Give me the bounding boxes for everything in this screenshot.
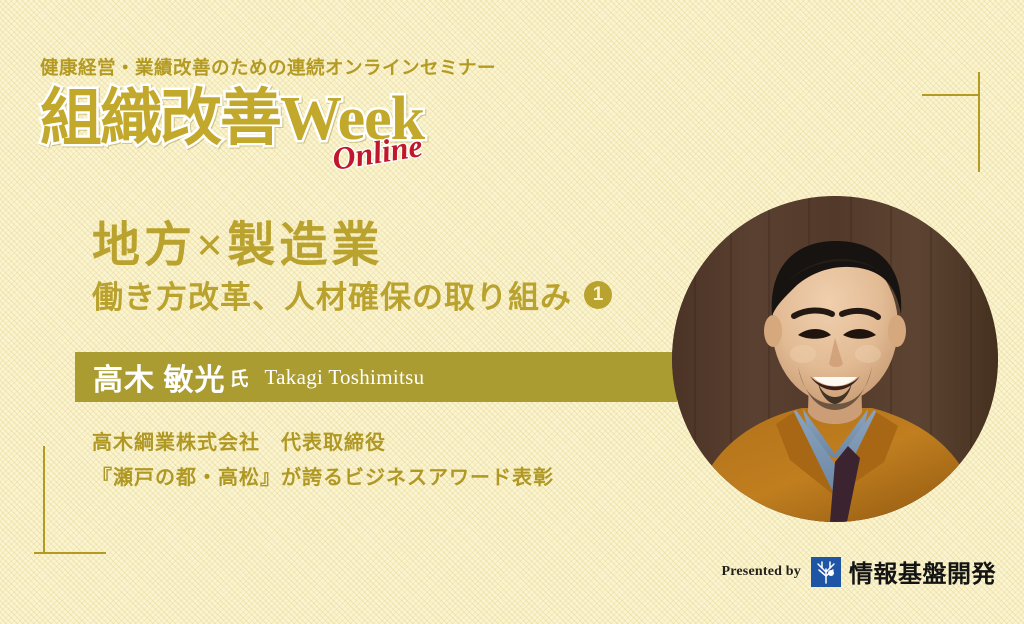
corner-bracket-top-right-horizontal bbox=[922, 94, 980, 96]
speaker-description: 『瀬戸の都・高松』が誇るビジネスアワード表彰 bbox=[92, 461, 554, 490]
seminar-banner: 健康経営・業績改善のための連続オンラインセミナー 組織改善Week Online… bbox=[0, 0, 1024, 624]
presented-by: Presented by 情報基盤開発 bbox=[721, 554, 996, 589]
speaker-honorific: 氏 bbox=[230, 364, 249, 391]
speaker-name-bar: 高木 敏光 氏 Takagi Toshimitsu bbox=[75, 352, 677, 402]
speaker-photo-image bbox=[672, 196, 998, 522]
speaker-affiliation: 高木綱業株式会社 代表取締役 bbox=[92, 426, 386, 455]
page-title: 地方×製造業 bbox=[92, 205, 383, 275]
tree-mark-icon bbox=[811, 557, 841, 587]
sponsor-name: 情報基盤開発 bbox=[849, 554, 996, 589]
speaker-name-japanese: 高木 敏光 bbox=[93, 355, 226, 399]
presented-by-label: Presented by bbox=[721, 564, 801, 580]
page-subtitle: 働き方改革、人材確保の取り組み 1 bbox=[92, 272, 612, 317]
series-logo: 組織改善Week Online bbox=[40, 84, 496, 158]
corner-bracket-bottom-left-horizontal bbox=[34, 552, 106, 554]
logo-block: 健康経営・業績改善のための連続オンラインセミナー 組織改善Week Online bbox=[40, 54, 496, 158]
corner-bracket-bottom-left-vertical bbox=[43, 446, 45, 554]
speaker-portrait bbox=[672, 196, 998, 522]
speaker-name-romanized: Takagi Toshimitsu bbox=[265, 365, 425, 390]
page-subtitle-text: 働き方改革、人材確保の取り組み bbox=[92, 272, 572, 317]
seminar-tagline: 健康経営・業績改善のための連続オンラインセミナー bbox=[40, 54, 496, 80]
corner-bracket-top-right-vertical bbox=[978, 72, 980, 172]
episode-number-badge: 1 bbox=[584, 281, 612, 309]
series-logo-jp: 組織改善 bbox=[40, 85, 280, 153]
